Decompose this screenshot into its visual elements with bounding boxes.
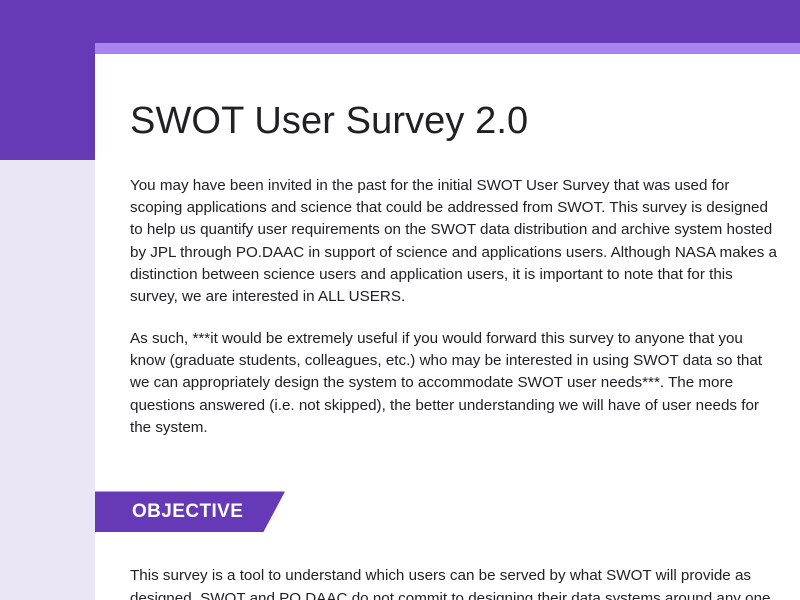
objective-body-paragraph: This survey is a tool to understand whic… bbox=[95, 565, 800, 600]
content-inner: SWOT User Survey 2.0 You may have been i… bbox=[95, 54, 800, 600]
intro-paragraph: You may have been invited in the past fo… bbox=[95, 144, 800, 309]
content-panel: SWOT User Survey 2.0 You may have been i… bbox=[95, 43, 800, 600]
forward-request-paragraph: As such, ***it would be extremely useful… bbox=[95, 309, 800, 440]
survey-page: SWOT User Survey 2.0 You may have been i… bbox=[0, 0, 800, 600]
objective-banner: OBJECTIVE bbox=[95, 491, 285, 532]
header-purple-band bbox=[0, 0, 800, 43]
objective-banner-row: OBJECTIVE bbox=[95, 439, 800, 532]
banner-spacer bbox=[95, 532, 800, 565]
accent-stripe bbox=[95, 43, 800, 54]
objective-banner-label: OBJECTIVE bbox=[95, 502, 243, 521]
page-title: SWOT User Survey 2.0 bbox=[95, 54, 800, 144]
decorative-purple-block bbox=[0, 0, 95, 160]
